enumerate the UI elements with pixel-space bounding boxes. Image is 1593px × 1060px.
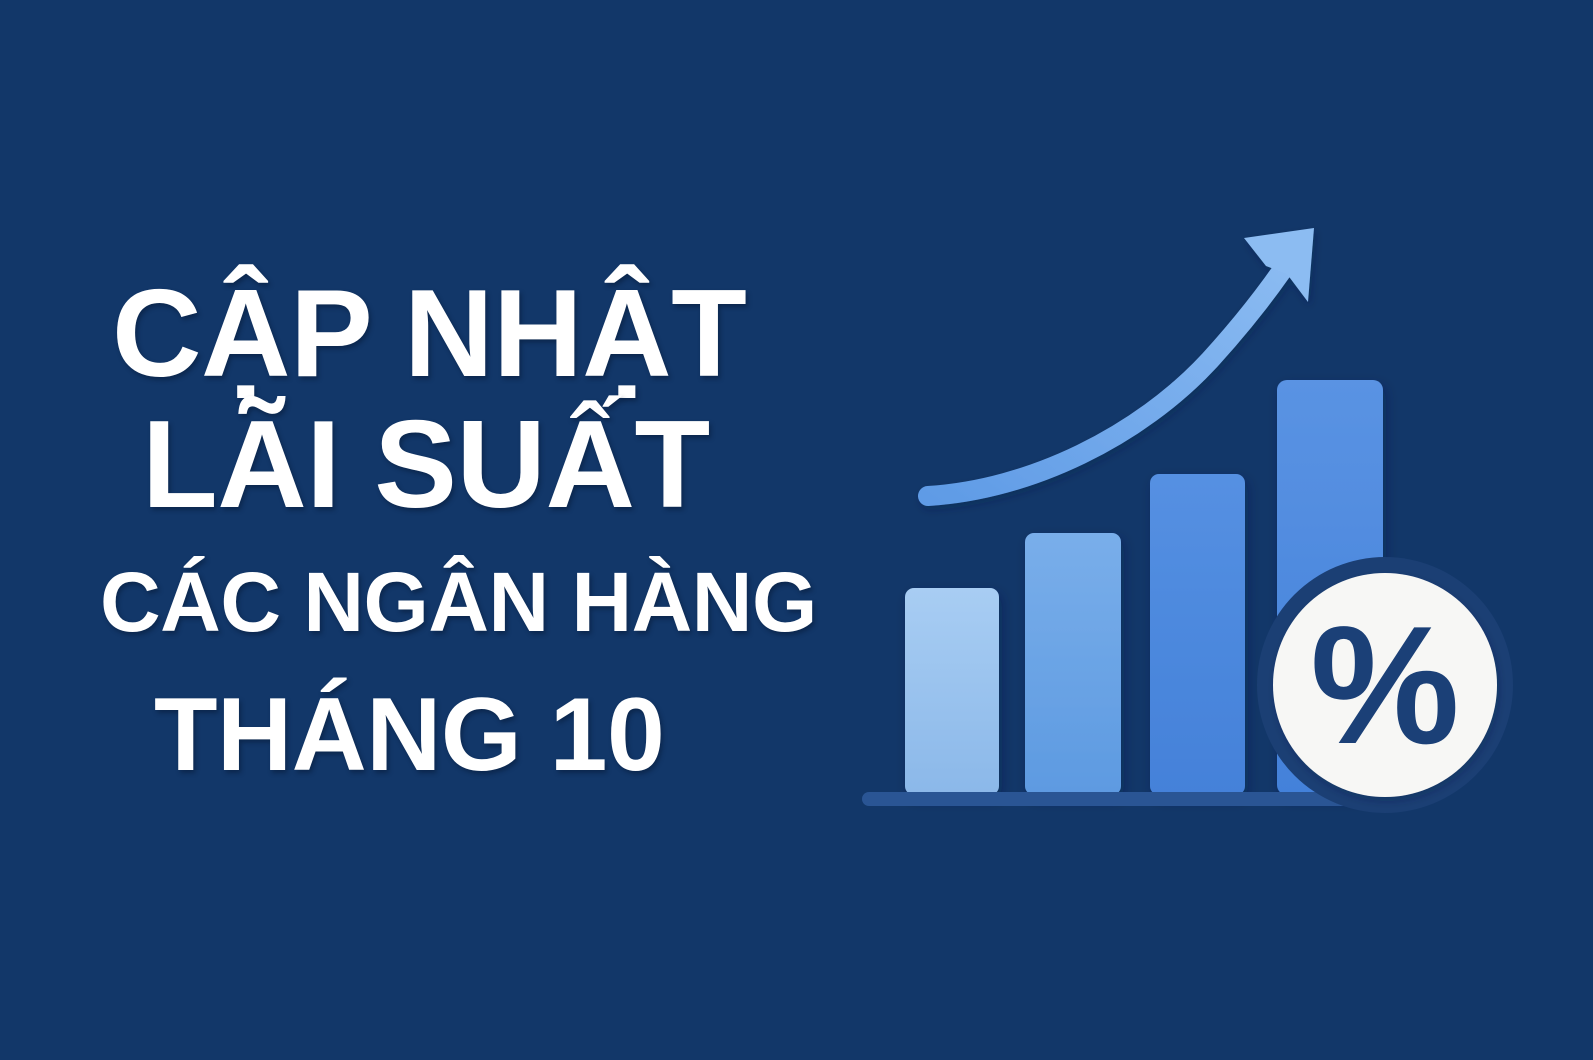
headline-line-1: CẬP NHẬT (112, 273, 746, 396)
chart-baseline (862, 792, 1392, 806)
bar-chart-graphic: % (840, 200, 1540, 860)
bar-chart-svg: % (840, 200, 1540, 860)
percent-symbol-label: % (1310, 591, 1459, 779)
chart-bar-1 (905, 588, 999, 795)
chart-bar-3 (1150, 474, 1245, 795)
headline-block: CẬP NHẬT LÃI SUẤT CÁC NGÂN HÀNG THÁNG 10 (0, 0, 820, 1060)
headline-line-2: LÃI SUẤT (142, 404, 710, 527)
chart-bar-2 (1025, 533, 1121, 795)
percent-badge: % (1257, 557, 1513, 813)
headline-line-4: THÁNG 10 (154, 684, 664, 787)
trend-arrow-icon (928, 228, 1314, 496)
headline-line-3: CÁC NGÂN HÀNG (100, 561, 817, 644)
poster-canvas: CẬP NHẬT LÃI SUẤT CÁC NGÂN HÀNG THÁNG 10 (0, 0, 1593, 1060)
